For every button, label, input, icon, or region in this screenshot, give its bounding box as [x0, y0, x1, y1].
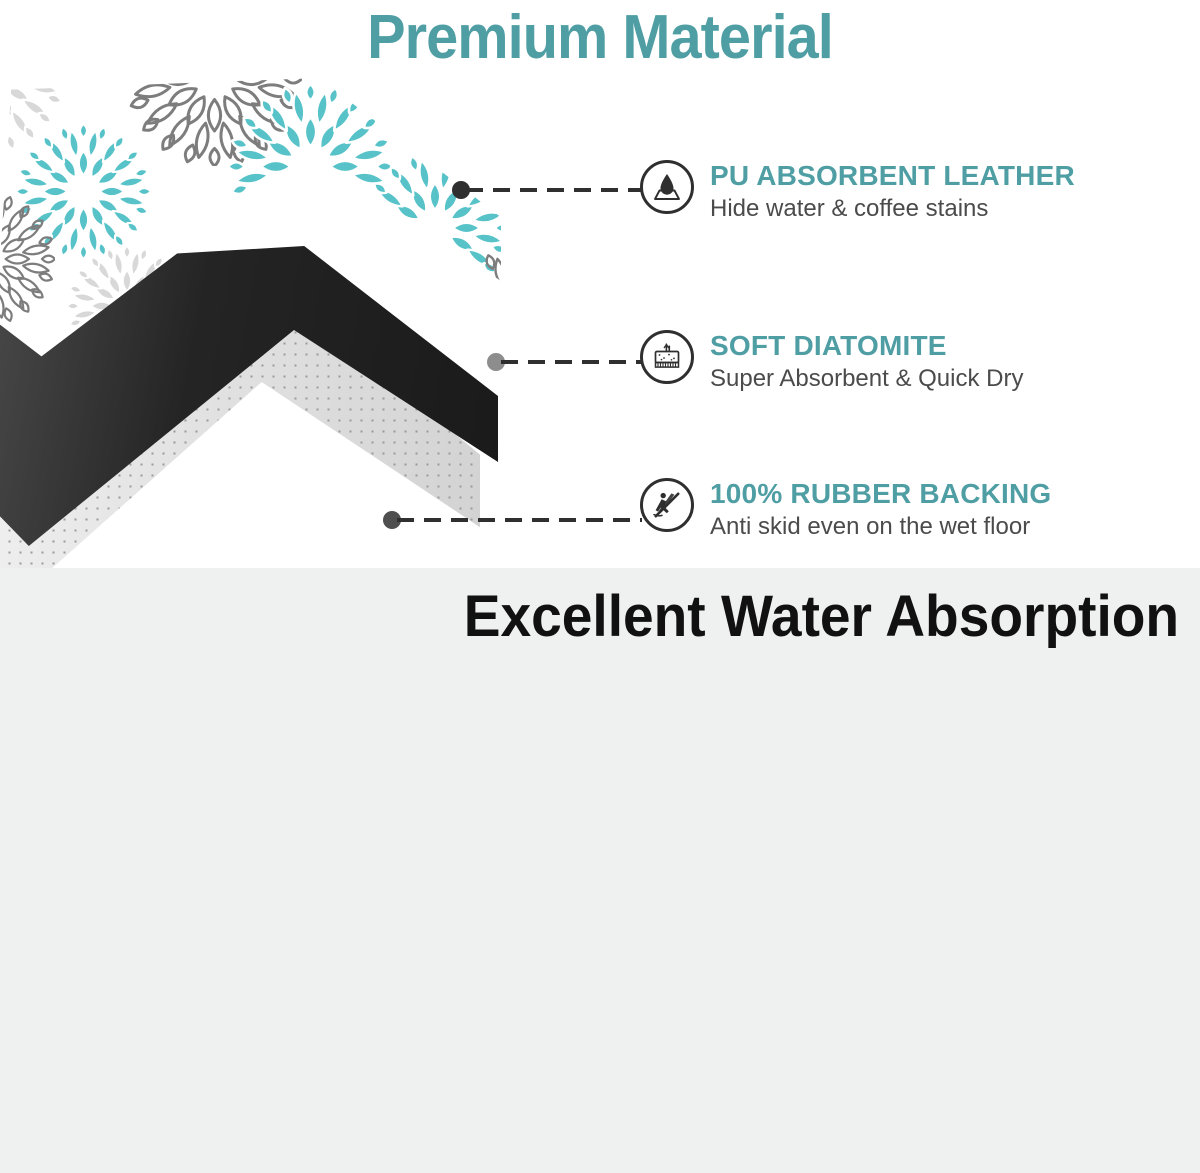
feature-rubber-backing: 100% RUBBER BACKING Anti skid even on th… — [640, 478, 1051, 541]
water-drop-on-surface-icon — [640, 160, 694, 214]
no-slip-person-icon — [640, 478, 694, 532]
connector-line-2 — [487, 360, 642, 364]
water-absorption-section: Excellent Water Absorption Water Coffee — [0, 568, 1200, 1173]
feature-subtitle: Hide water & coffee stains — [710, 194, 1075, 223]
connector-line-3 — [383, 518, 642, 522]
feature-pu-absorbent-leather: PU ABSORBENT LEATHER Hide water & coffee… — [640, 160, 1075, 223]
feature-title: SOFT DIATOMITE — [710, 331, 1023, 361]
dahlia-flower — [390, 78, 501, 150]
dahlia-flower — [440, 252, 501, 368]
dahlia-flower — [0, 194, 55, 324]
premium-material-section: Premium Material PU ABSORBENT LEATHER Hi… — [0, 0, 1200, 568]
feature-soft-diatomite: SOFT DIATOMITE Super Absorbent & Quick D… — [640, 330, 1023, 393]
feature-title: 100% RUBBER BACKING — [710, 479, 1051, 509]
feature-title: PU ABSORBENT LEATHER — [710, 161, 1075, 191]
section-title: Excellent Water Absorption — [60, 583, 1200, 650]
feature-subtitle: Super Absorbent & Quick Dry — [710, 364, 1023, 393]
page-title: Premium Material — [42, 2, 1158, 73]
layered-mat-illustration — [0, 78, 580, 568]
feature-subtitle: Anti skid even on the wet floor — [710, 512, 1051, 541]
dahlia-flower — [360, 153, 501, 303]
connector-line-1 — [452, 188, 642, 192]
diatomite-block-icon — [640, 330, 694, 384]
